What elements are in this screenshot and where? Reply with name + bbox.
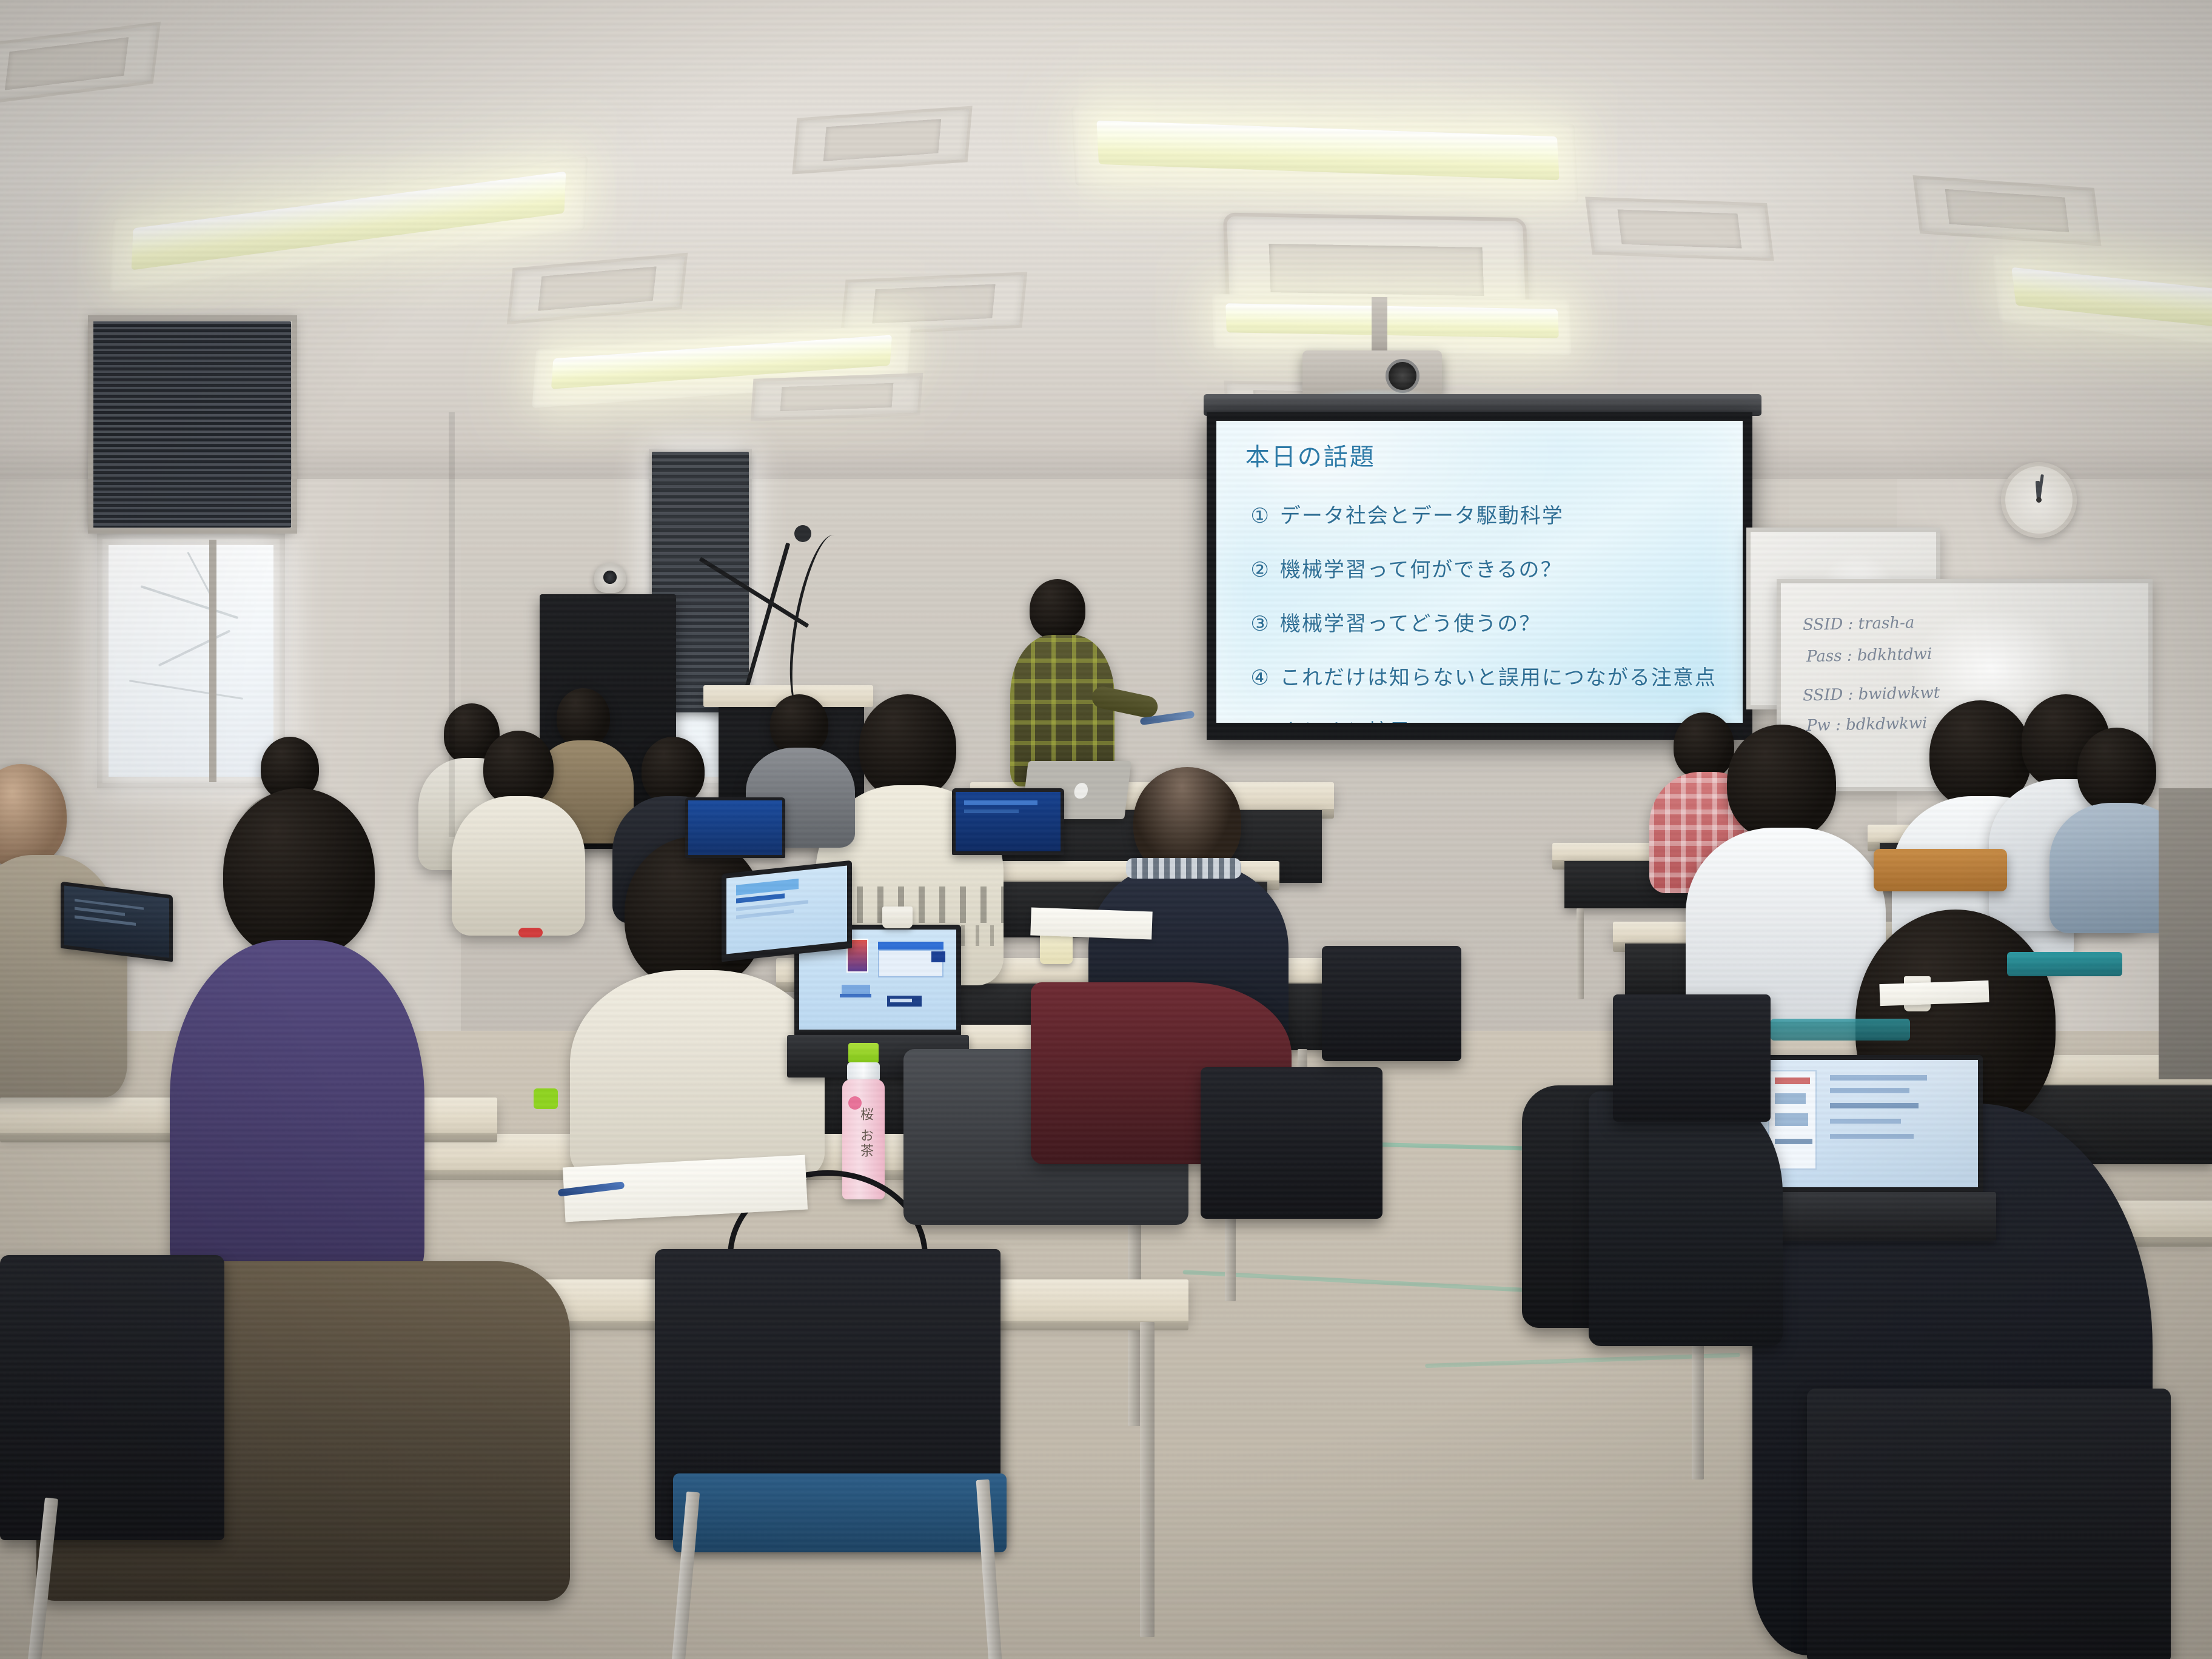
window-left-upper — [88, 315, 297, 534]
photo-scene: 本日の話題 ①データ社会とデータ駆動科学 ②機械学習って何ができるの？ ③機械学… — [0, 0, 2212, 1659]
tan-leather-bag[interactable] — [1874, 849, 2007, 891]
chair-back-left[interactable] — [0, 1255, 224, 1540]
clock-center-pin — [2036, 497, 2042, 503]
desk-leg — [1140, 1322, 1155, 1637]
bullet-number: ④ — [1250, 666, 1270, 690]
window-mullion — [209, 540, 216, 782]
head — [642, 737, 705, 805]
slide-bullet: ②機械学習って何ができるの？ — [1250, 553, 1724, 583]
paper-cup-2[interactable] — [882, 907, 913, 928]
chair-back-mid-3[interactable] — [1613, 994, 1771, 1122]
chair-back-mid[interactable] — [1201, 1067, 1382, 1219]
head — [0, 764, 67, 867]
laptop-screen[interactable] — [956, 792, 1061, 851]
wall-edge-left — [449, 412, 455, 837]
paper-sheets-right[interactable] — [1879, 980, 1989, 1006]
attendee-front-left-purple — [170, 788, 424, 1292]
laptop-mid-left[interactable] — [952, 788, 1073, 879]
attendee-cream-sweater — [452, 731, 585, 931]
bullet-number: ⑤ — [1250, 720, 1270, 723]
bullet-text: 機械学習って何ができるの？ — [1280, 558, 1563, 582]
teal-folder-2[interactable] — [1771, 1019, 1910, 1041]
ceiling-vent — [1585, 197, 1774, 261]
whiteboard-text-line: Pass : bdkhtdwi — [1806, 645, 1932, 666]
red-marker[interactable] — [518, 928, 543, 937]
slide-bullet-list: ①データ社会とデータ駆動科学 ②機械学習って何ができるの？ ③機械学習ってどう使… — [1250, 499, 1724, 723]
laptop-far-left[interactable] — [61, 888, 182, 979]
fluorescent-tube — [1225, 303, 1559, 338]
head — [2077, 728, 2156, 813]
chair-back-mid-2[interactable] — [1322, 946, 1461, 1061]
laptop-screen[interactable] — [64, 885, 169, 957]
bullet-number: ② — [1250, 558, 1270, 582]
laptop-mid-center[interactable] — [685, 797, 794, 876]
teal-folder[interactable] — [2007, 952, 2122, 976]
bullet-number: ③ — [1250, 612, 1270, 636]
head — [859, 694, 956, 799]
webcam-icon — [594, 563, 626, 593]
bottle-label-text: 桜 お茶 — [856, 1107, 875, 1159]
laptop-screen[interactable] — [1757, 1060, 1978, 1187]
laptop-right-front[interactable] — [1752, 1055, 2007, 1237]
paper-sheets-mid[interactable] — [1030, 908, 1152, 940]
wall-seam-right — [2159, 788, 2212, 1079]
torso — [570, 970, 825, 1182]
head — [483, 731, 554, 806]
projection-screen: 本日の話題 ①データ社会とデータ駆動科学 ②機械学習って何ができるの？ ③機械学… — [1207, 412, 1752, 740]
bullet-text: データ社会とデータ駆動科学 — [1280, 504, 1564, 528]
slide-bullet: ④これだけは知らないと誤用につながる注意点 — [1250, 661, 1724, 691]
bullet-number: ① — [1250, 504, 1270, 528]
laptop-front-left[interactable] — [722, 867, 867, 988]
laptop-lid — [1752, 1055, 1983, 1195]
apple-logo-icon — [1073, 783, 1088, 799]
laptop-screen[interactable] — [688, 800, 782, 855]
torso — [452, 796, 585, 936]
ceiling-vent — [751, 373, 923, 421]
green-object — [534, 1088, 558, 1109]
bullet-text: まとめと蛇足 — [1280, 720, 1411, 723]
laptop-lid — [685, 797, 785, 858]
wall-clock — [2001, 462, 2077, 538]
slide: 本日の話題 ①データ社会とデータ駆動科学 ②機械学習って何ができるの？ ③機械学… — [1216, 421, 1743, 723]
bullet-text: 機械学習ってどう使うの？ — [1280, 612, 1541, 636]
torso — [170, 940, 424, 1298]
slide-title: 本日の話題 — [1245, 437, 1376, 472]
bullet-text: これだけは知らないと誤用につながる注意点 — [1280, 666, 1717, 690]
slide-bullet: ③機械学習ってどう使うの？ — [1250, 607, 1724, 637]
chair-seat[interactable] — [673, 1473, 1007, 1552]
bottle-cap — [848, 1043, 879, 1064]
head — [770, 694, 828, 755]
laptop-lid — [61, 882, 173, 962]
laptop-screen[interactable] — [726, 866, 847, 954]
desk-leg — [1577, 908, 1584, 999]
laptop-lid — [952, 788, 1064, 855]
microphone-head — [794, 525, 811, 542]
sakura-mark-icon — [848, 1096, 862, 1110]
slide-bullet: ①データ社会とデータ駆動科学 — [1250, 499, 1724, 529]
presenter-head — [1030, 579, 1085, 640]
collar — [1126, 858, 1241, 879]
draped-coat-right — [1589, 1091, 1783, 1346]
whiteboard-text-line: SSID : trash-a — [1803, 614, 1915, 634]
chair-back-right[interactable] — [1807, 1389, 2171, 1659]
head — [223, 788, 375, 958]
